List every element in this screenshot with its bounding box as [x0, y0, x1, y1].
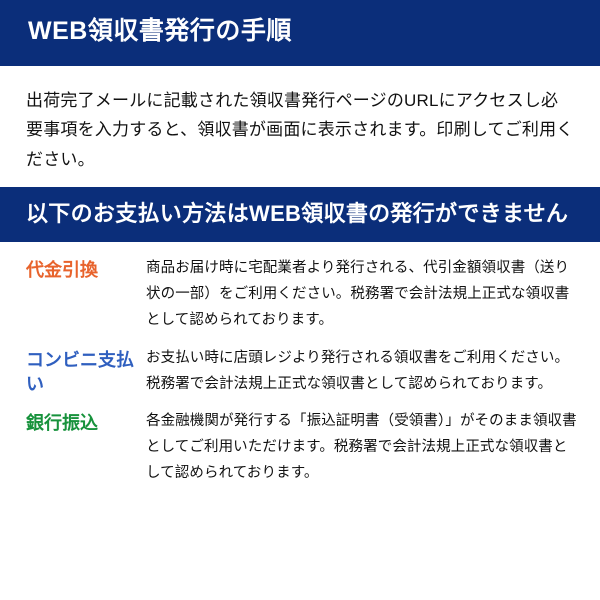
receipt-info-page: WEB領収書発行の手順 出荷完了メールに記載された領収書発行ページのURLにアク…: [0, 0, 600, 600]
method-label-ginko: 銀行振込: [22, 409, 140, 435]
method-description-conveni: お支払い時に店頭レジより発行される領収書をご利用ください。税務署で会計法規上正式…: [140, 346, 580, 398]
method-description-ginko: 各金融機関が発行する「振込証明書（受領書）」がそのまま領収書としてご利用いただけ…: [140, 409, 580, 486]
notice-title: 以下のお支払い方法はWEB領収書の発行ができません: [26, 199, 574, 229]
header-band: WEB領収書発行の手順: [0, 0, 600, 66]
intro-paragraph: 出荷完了メールに記載された領収書発行ページのURLにアクセスし必要事項を入力する…: [26, 86, 574, 175]
method-label-daibiki: 代金引換: [22, 256, 140, 282]
method-row: コンビニ支払い お支払い時に店頭レジより発行される領収書をご利用ください。税務署…: [22, 346, 580, 398]
payment-methods-list: 代金引換 商品お届け時に宅配業者より発行される、代引金額領収書（送り状の一部）を…: [0, 242, 600, 508]
intro-section: 出荷完了メールに記載された領収書発行ページのURLにアクセスし必要事項を入力する…: [0, 66, 600, 187]
method-description-daibiki: 商品お届け時に宅配業者より発行される、代引金額領収書（送り状の一部）をご利用くだ…: [140, 256, 580, 333]
method-row: 代金引換 商品お届け時に宅配業者より発行される、代引金額領収書（送り状の一部）を…: [22, 256, 580, 333]
page-title: WEB領収書発行の手順: [28, 18, 572, 46]
notice-band: 以下のお支払い方法はWEB領収書の発行ができません: [0, 187, 600, 243]
method-row: 銀行振込 各金融機関が発行する「振込証明書（受領書）」がそのまま領収書としてご利…: [22, 409, 580, 486]
method-label-conveni: コンビニ支払い: [22, 346, 140, 397]
